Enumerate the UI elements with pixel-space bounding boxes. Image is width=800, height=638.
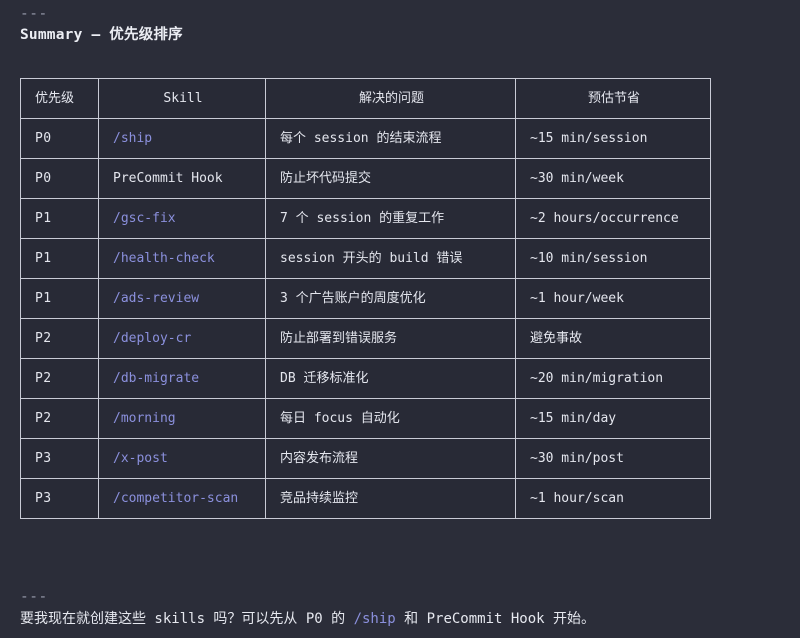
column-header-priority: 优先级 <box>21 79 99 119</box>
closing-text-part2: 和 PreCommit Hook 开始。 <box>396 611 595 627</box>
table-row: P2/db-migrateDB 迁移标准化~20 min/migration <box>21 359 711 399</box>
cell-priority: P1 <box>21 239 99 279</box>
cell-priority: P0 <box>21 159 99 199</box>
table-row: P0PreCommit Hook防止坏代码提交~30 min/week <box>21 159 711 199</box>
cell-problem: 竞品持续监控 <box>266 479 516 519</box>
cell-skill[interactable]: /morning <box>99 399 266 439</box>
cell-saving: ~1 hour/week <box>516 279 711 319</box>
cell-saving: ~20 min/migration <box>516 359 711 399</box>
column-header-saving: 预估节省 <box>516 79 711 119</box>
cell-priority: P3 <box>21 439 99 479</box>
table-row: P3/competitor-scan竞品持续监控~1 hour/scan <box>21 479 711 519</box>
cell-skill[interactable]: /health-check <box>99 239 266 279</box>
cell-priority: P3 <box>21 479 99 519</box>
cell-problem: 3 个广告账户的周度优化 <box>266 279 516 319</box>
table-row: P1/gsc-fix7 个 session 的重复工作~2 hours/occu… <box>21 199 711 239</box>
priority-summary-table: 优先级 Skill 解决的问题 预估节省 P0/ship每个 session 的… <box>20 78 711 519</box>
bottom-horizontal-rule: --- <box>20 588 790 606</box>
table-row: P2/morning每日 focus 自动化~15 min/day <box>21 399 711 439</box>
cell-priority: P1 <box>21 279 99 319</box>
cell-priority: P1 <box>21 199 99 239</box>
cell-saving: ~2 hours/occurrence <box>516 199 711 239</box>
page-title: Summary — 优先级排序 <box>20 25 183 45</box>
cell-saving: 避免事故 <box>516 319 711 359</box>
cell-priority: P0 <box>21 119 99 159</box>
cell-problem: 每日 focus 自动化 <box>266 399 516 439</box>
cell-problem: 7 个 session 的重复工作 <box>266 199 516 239</box>
table-row: P1/ads-review3 个广告账户的周度优化~1 hour/week <box>21 279 711 319</box>
cell-problem: 每个 session 的结束流程 <box>266 119 516 159</box>
cell-saving: ~1 hour/scan <box>516 479 711 519</box>
cell-problem: 内容发布流程 <box>266 439 516 479</box>
cell-skill[interactable]: /ship <box>99 119 266 159</box>
column-header-skill: Skill <box>99 79 266 119</box>
cell-skill[interactable]: /ads-review <box>99 279 266 319</box>
table-row: P0/ship每个 session 的结束流程~15 min/session <box>21 119 711 159</box>
cell-problem: DB 迁移标准化 <box>266 359 516 399</box>
summary-table-container: 优先级 Skill 解决的问题 预估节省 P0/ship每个 session 的… <box>20 78 710 519</box>
cell-skill[interactable]: /x-post <box>99 439 266 479</box>
closing-question: 要我现在就创建这些 skills 吗？可以先从 P0 的 /ship 和 Pre… <box>20 609 790 630</box>
cell-skill[interactable]: /competitor-scan <box>99 479 266 519</box>
cell-saving: ~15 min/day <box>516 399 711 439</box>
cell-skill: PreCommit Hook <box>99 159 266 199</box>
summary-page: --- Summary — 优先级排序 优先级 Skill 解决的问题 预估节省… <box>0 0 800 638</box>
column-header-problem: 解决的问题 <box>266 79 516 119</box>
cell-saving: ~30 min/week <box>516 159 711 199</box>
table-row: P2/deploy-cr防止部署到错误服务避免事故 <box>21 319 711 359</box>
table-row: P3/x-post内容发布流程~30 min/post <box>21 439 711 479</box>
cell-skill[interactable]: /deploy-cr <box>99 319 266 359</box>
cell-priority: P2 <box>21 359 99 399</box>
cell-problem: 防止坏代码提交 <box>266 159 516 199</box>
cell-saving: ~30 min/post <box>516 439 711 479</box>
cell-saving: ~10 min/session <box>516 239 711 279</box>
cell-priority: P2 <box>21 319 99 359</box>
table-row: P1/health-checksession 开头的 build 错误~10 m… <box>21 239 711 279</box>
table-header: 优先级 Skill 解决的问题 预估节省 <box>21 79 711 119</box>
table-body: P0/ship每个 session 的结束流程~15 min/sessionP0… <box>21 119 711 519</box>
closing-text-part1: 要我现在就创建这些 skills 吗？可以先从 P0 的 <box>20 611 354 627</box>
top-horizontal-rule: --- <box>20 5 48 23</box>
cell-problem: session 开头的 build 错误 <box>266 239 516 279</box>
cell-skill[interactable]: /db-migrate <box>99 359 266 399</box>
cell-priority: P2 <box>21 399 99 439</box>
table-header-row: 优先级 Skill 解决的问题 预估节省 <box>21 79 711 119</box>
cell-problem: 防止部署到错误服务 <box>266 319 516 359</box>
closing-command-ship: /ship <box>354 611 396 627</box>
cell-skill[interactable]: /gsc-fix <box>99 199 266 239</box>
cell-saving: ~15 min/session <box>516 119 711 159</box>
footer: --- 要我现在就创建这些 skills 吗？可以先从 P0 的 /ship 和… <box>20 588 790 630</box>
